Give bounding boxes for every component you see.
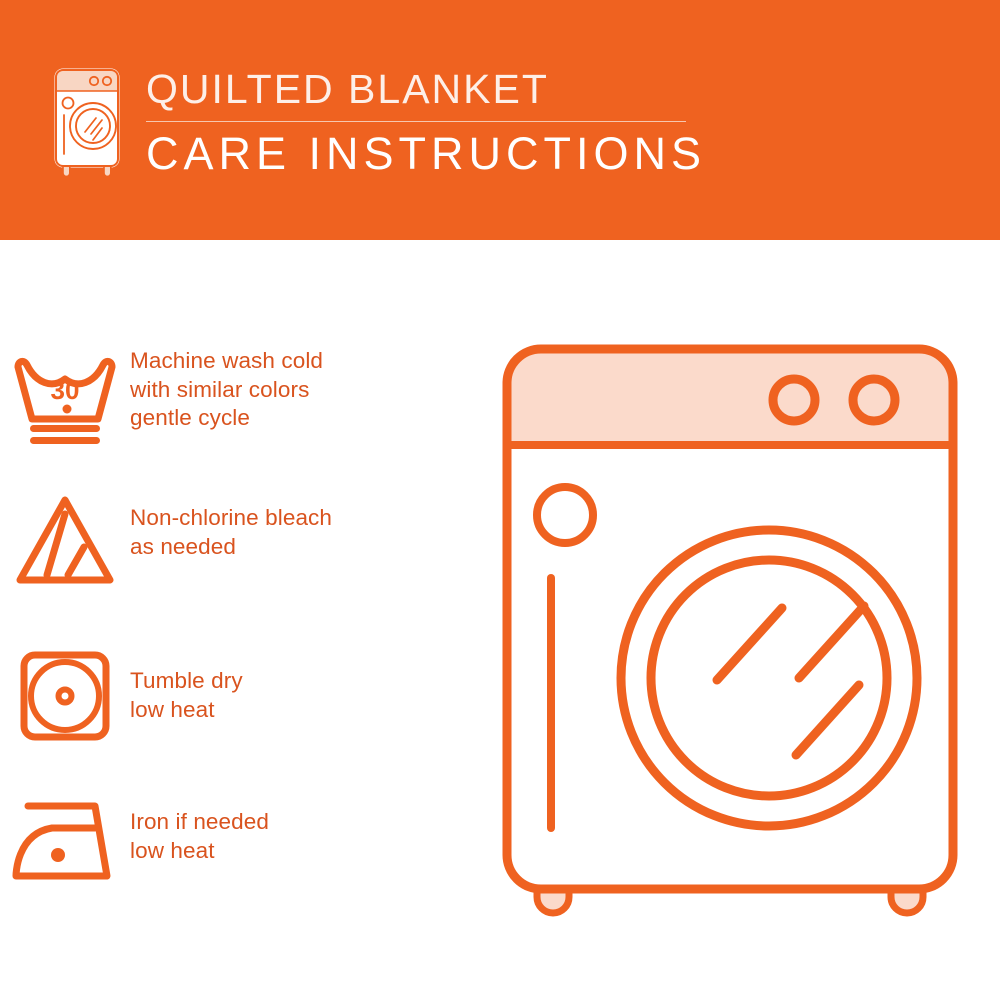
tumble-dry-icon <box>0 645 130 749</box>
page-title: QUILTED BLANKET <box>146 64 746 114</box>
care-row-bleach: Non-chlorine bleach as needed <box>0 490 470 590</box>
care-label-line-1: Tumble dry <box>130 667 243 696</box>
care-row-tumble-dry: Tumble dry low heat <box>0 645 470 749</box>
washing-machine-icon <box>44 62 130 178</box>
care-row-machine-wash: 30 Machine wash cold with similar colors… <box>0 345 470 453</box>
care-label-line-1: Machine wash cold <box>130 347 323 376</box>
wash-tub-30-icon: 30 <box>0 345 130 453</box>
care-label-line-2: low heat <box>130 837 269 866</box>
page-header: QUILTED BLANKET CARE INSTRUCTIONS <box>0 0 1000 240</box>
care-label-line-2: low heat <box>130 696 243 725</box>
care-label-line-1: Non-chlorine bleach <box>130 504 332 533</box>
care-label-line-3: gentle cycle <box>130 404 323 433</box>
care-label-bleach: Non-chlorine bleach as needed <box>130 490 332 561</box>
header-text-block: QUILTED BLANKET CARE INSTRUCTIONS <box>146 64 746 182</box>
care-instruction-list: 30 Machine wash cold with similar colors… <box>0 240 470 1000</box>
title-divider <box>146 121 686 122</box>
wash-temperature-value: 30 <box>51 375 80 405</box>
care-label-line-2: as needed <box>130 533 332 562</box>
care-label-line-1: Iron if needed <box>130 808 269 837</box>
care-row-iron: Iron if needed low heat <box>0 790 470 886</box>
care-label-iron: Iron if needed low heat <box>130 790 269 865</box>
washing-machine-illustration <box>495 335 965 925</box>
care-label-machine-wash: Machine wash cold with similar colors ge… <box>130 345 323 433</box>
care-label-line-2: with similar colors <box>130 376 323 405</box>
iron-icon <box>0 790 130 886</box>
control-panel <box>507 349 953 445</box>
care-label-tumble-dry: Tumble dry low heat <box>130 645 243 724</box>
bleach-triangle-icon <box>0 490 130 590</box>
page-subtitle: CARE INSTRUCTIONS <box>146 126 746 182</box>
